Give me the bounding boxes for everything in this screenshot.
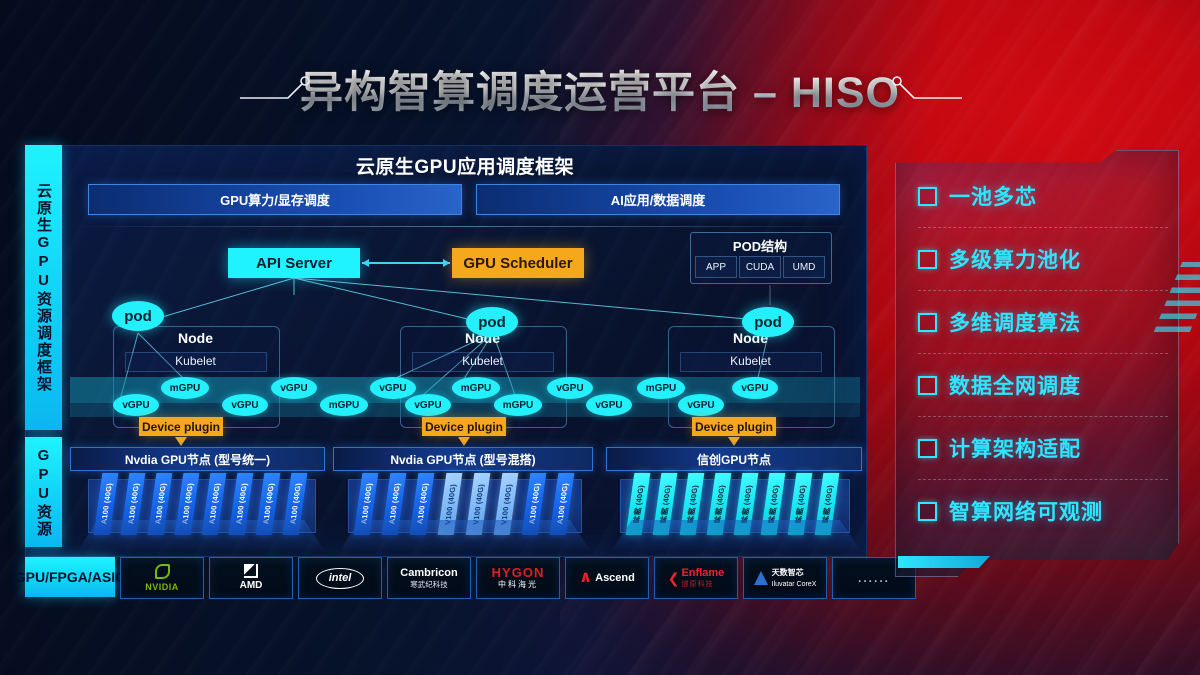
vgpu-ellipse-2: vGPU <box>222 394 268 416</box>
vendor-logo: AMD <box>209 557 293 599</box>
vgpu-ellipse-6: vGPU <box>732 377 778 399</box>
vendor-logo-name: AMD <box>240 580 263 592</box>
gpu-card-label: 昇腾 (40G) <box>657 485 673 523</box>
vendor-logo-row: NVIDIAAMDintelCambricon寒武纪科技HYGON中科海光∧As… <box>120 557 916 597</box>
sidebar-tab-hardware-line1: GPU/FPGA <box>15 568 88 586</box>
gpu-card-label: A100 (40G) <box>99 483 114 524</box>
bidirectional-arrow-icon <box>362 262 450 264</box>
vendor-logo-name: NVIDIA <box>145 581 179 593</box>
sidebar-tab-gpu-resources: GPU资源 <box>25 437 62 547</box>
gpu-card-label: 昇腾 (40G) <box>684 485 700 523</box>
gpu-base-1 <box>78 520 324 550</box>
vgpu-ellipse-1: vGPU <box>113 394 159 416</box>
feature-item[interactable]: 多级算力池化 <box>918 228 1168 291</box>
gpu-pool-band-lower <box>70 403 860 417</box>
intel-oval-icon: intel <box>316 568 364 589</box>
feature-item[interactable]: 数据全网调度 <box>918 354 1168 417</box>
checkbox-icon[interactable] <box>918 313 937 332</box>
feature-item[interactable]: 一池多芯 <box>918 165 1168 228</box>
feature-item-label: 计算架构适配 <box>949 433 1081 463</box>
pod-ellipse-2: pod <box>466 307 518 337</box>
feature-item[interactable]: 智算网络可观测 <box>918 480 1168 542</box>
gpu-base-3 <box>612 520 860 550</box>
vendor-logo-name: Ascend <box>595 572 635 584</box>
vendor-logo-name: Cambricon <box>400 567 457 579</box>
gpu-card-label: A100 (40G) <box>180 483 195 524</box>
vgpu-ellipse-4: vGPU <box>405 394 451 416</box>
vgpu-ellipse-3: vGPU <box>370 377 416 399</box>
title-decoration-right <box>892 76 962 100</box>
iluvatar-tri-icon <box>754 571 768 585</box>
gpu-group-title-3: 信创GPU节点 <box>606 447 862 471</box>
checkbox-icon[interactable] <box>918 376 937 395</box>
sidebar-tab-framework: 云原生GPU资源调度框架 <box>25 145 62 430</box>
gpu-group-title-2: Nvdia GPU节点 (型号混搭) <box>333 447 593 471</box>
amd-arrow-icon <box>244 564 258 578</box>
page-title: 异构智算调度运营平台 – HISO <box>0 62 1200 124</box>
feature-panel-accent-corner <box>898 556 990 568</box>
mgpu-ellipse-4: mGPU <box>637 377 685 399</box>
slide-canvas: 异构智算调度运营平台 – HISO 云原生GPU资源调度框架 GPU资源 GPU… <box>0 0 1200 675</box>
feature-item[interactable]: 计算架构适配 <box>918 417 1168 480</box>
device-plugin-1: Device plugin <box>139 417 223 436</box>
pod-cell-umd: UMD <box>783 256 825 278</box>
device-plugin-3: Device plugin <box>692 417 776 436</box>
vendor-logo-name: Enflame <box>681 567 724 579</box>
vendor-logo: HYGON中科海光 <box>476 557 560 599</box>
feature-item-label: 多级算力池化 <box>949 244 1081 274</box>
vendor-logo: NVIDIA <box>120 557 204 599</box>
vendor-logo-row-inner: 天数智芯Iluvatar CoreX <box>754 567 817 589</box>
vendor-logo-subtitle: 中科海光 <box>498 580 538 589</box>
vendor-logo-row-inner: ∧Ascend <box>579 571 635 585</box>
vendor-logo: 天数智芯Iluvatar CoreX <box>743 557 827 599</box>
device-plugin-arrow-3 <box>728 437 740 446</box>
vendor-logo-name: ...... <box>858 572 890 584</box>
vendor-logo-text: Enflame燧原科技 <box>681 567 724 589</box>
gpu-card-label: A100 (40G) <box>387 483 402 524</box>
gpu-card-label: 昇腾 (40G) <box>711 485 727 523</box>
vgpu-ellipse-loose-2: vGPU <box>547 377 593 399</box>
kubelet-label-1: Kubelet <box>113 352 278 370</box>
mgpu-ellipse-loose-1: mGPU <box>320 394 368 416</box>
gpu-base-2 <box>340 520 590 550</box>
node-label-1: Node <box>113 330 278 346</box>
feature-list: 一池多芯多级算力池化多维调度算法数据全网调度计算架构适配智算网络可观测 <box>918 165 1168 542</box>
vendor-logo-name: intel <box>329 572 352 584</box>
gpu-card-label: A100 (40G) <box>261 483 276 524</box>
vendor-logo-name: HYGON <box>492 567 545 579</box>
vendor-logo-name: 天数智芯 <box>772 567 817 579</box>
mgpu-ellipse-1: mGPU <box>161 377 209 399</box>
pod-cell-cuda: CUDA <box>739 256 781 278</box>
pod-cell-app: APP <box>695 256 737 278</box>
feature-item-label: 一池多芯 <box>949 181 1037 211</box>
vendor-logo: Cambricon寒武纪科技 <box>387 557 471 599</box>
panel-divider <box>70 226 860 227</box>
feature-item-label: 智算网络可观测 <box>949 496 1103 526</box>
vendor-logo: ∧Ascend <box>565 557 649 599</box>
gpu-card-label: A100 (40G) <box>126 483 141 524</box>
vendor-logo-subtitle: Iluvatar CoreX <box>772 580 817 589</box>
gpu-group-title-1: Nvdia GPU节点 (型号统一) <box>70 447 325 471</box>
gpu-card-label: A100 (40G) <box>207 483 222 524</box>
device-plugin-arrow-1 <box>175 437 187 446</box>
title-decoration-left <box>240 76 310 100</box>
device-plugin-2: Device plugin <box>422 417 506 436</box>
device-plugin-arrow-2 <box>458 437 470 446</box>
gpu-card-label: V100 (40G) <box>471 484 486 525</box>
vendor-logo-subtitle: 燧原科技 <box>681 580 724 589</box>
header-bar-ai: AI应用/数据调度 <box>476 184 840 215</box>
gpu-card-label: A100 (40G) <box>415 483 430 524</box>
gpu-card-label: A100 (40G) <box>234 483 249 524</box>
pod-ellipse-3: pod <box>742 307 794 337</box>
kubelet-label-2: Kubelet <box>400 352 565 370</box>
feature-item-label: 数据全网调度 <box>949 370 1081 400</box>
checkbox-icon[interactable] <box>918 187 937 206</box>
nvidia-eye-icon <box>155 564 170 579</box>
kubelet-label-3: Kubelet <box>668 352 833 370</box>
gpu-scheduler-box: GPU Scheduler <box>452 248 584 278</box>
gpu-card-label: 昇腾 (40G) <box>792 485 808 523</box>
vgpu-ellipse-loose-1: vGPU <box>271 377 317 399</box>
vendor-logo-row-inner: ❮Enflame燧原科技 <box>668 567 725 589</box>
gpu-card-label: 昇腾 (40G) <box>819 485 835 523</box>
section-title: 云原生GPU应用调度框架 <box>70 152 860 179</box>
vendor-logo: ❮Enflame燧原科技 <box>654 557 738 599</box>
vendor-logo-subtitle: 寒武纪科技 <box>410 580 448 589</box>
pod-ellipse-1: pod <box>112 301 164 331</box>
feature-item[interactable]: 多维调度算法 <box>918 291 1168 354</box>
vendor-logo: intel <box>298 557 382 599</box>
checkbox-icon[interactable] <box>918 502 937 521</box>
pod-structure-cells: APP CUDA UMD <box>694 256 826 278</box>
title-area: 异构智算调度运营平台 – HISO <box>0 62 1200 142</box>
gpu-card-label: A100 (40G) <box>555 483 570 524</box>
mgpu-ellipse-2: mGPU <box>452 377 500 399</box>
feature-item-label: 多维调度算法 <box>949 307 1081 337</box>
checkbox-icon[interactable] <box>918 250 937 269</box>
gpu-card-label: 昇腾 (40G) <box>630 485 646 523</box>
api-server-box: API Server <box>228 248 360 278</box>
gpu-card-label: A100 (40G) <box>527 483 542 524</box>
checkbox-icon[interactable] <box>918 439 937 458</box>
gpu-card-label: A100 (40G) <box>288 483 303 524</box>
vendor-logo-text: Ascend <box>595 572 635 584</box>
sidebar-tab-hardware: GPU/FPGA /ASIC <box>25 557 115 597</box>
enflame-flame-icon: ❮ <box>668 570 680 587</box>
ascend-mark-icon: ∧ <box>579 571 592 585</box>
gpu-card-label: 昇腾 (40G) <box>765 485 781 523</box>
gpu-card-label: A100 (40G) <box>359 483 374 524</box>
gpu-card-label: A100 (40G) <box>153 483 168 524</box>
gpu-card-label: 昇腾 (40G) <box>738 485 754 523</box>
vgpu-ellipse-loose-3: vGPU <box>586 394 632 416</box>
gpu-card-label: V100 (40G) <box>443 484 458 525</box>
header-bar-compute: GPU算力/显存调度 <box>88 184 462 215</box>
mgpu-ellipse-3: mGPU <box>494 394 542 416</box>
vendor-logo-text: 天数智芯Iluvatar CoreX <box>772 567 817 589</box>
pod-structure-title: POD结构 <box>690 236 830 255</box>
gpu-card-label: V100 (40G) <box>499 484 514 525</box>
vgpu-ellipse-5: vGPU <box>678 394 724 416</box>
